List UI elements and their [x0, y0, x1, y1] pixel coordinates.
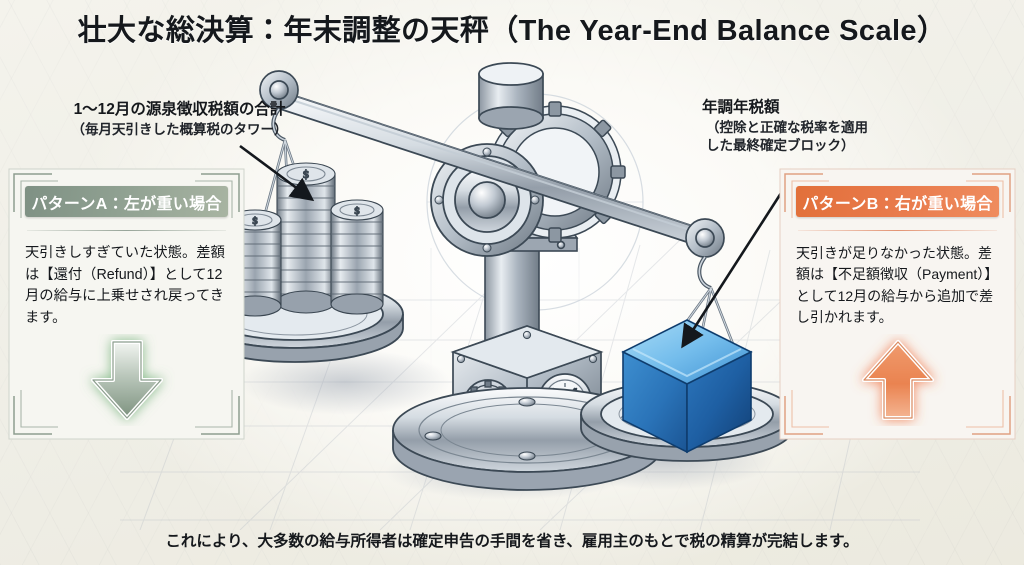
callout-left: 1〜12月の源泉徴収税額の合計 （毎月天引きした概算税のタワー）: [52, 100, 307, 139]
coin-stack-right: $: [331, 200, 383, 314]
panel-pattern-b: パターンB：右が重い場合 天引きが足りなかった状態。差額は【不足額徴収（Paym…: [779, 168, 1016, 440]
panel-b-divider: [798, 230, 997, 231]
callout-left-sub: （毎月天引きした概算税のタワー）: [52, 121, 307, 139]
panel-b-body: 天引きが足りなかった状態。差額は【不足額徴収（Payment）】として12月の給…: [796, 243, 999, 328]
panel-pattern-a: パターンA：左が重い場合 天引きしすぎていた状態。差額は【還付（Refund）】…: [8, 168, 245, 440]
arrow-down-icon: [79, 334, 175, 426]
callout-right-sub-line2: した最終確定ブロック）: [702, 137, 942, 155]
arrow-up-icon: [850, 334, 946, 426]
panel-a-body: 天引きしすぎていた状態。差額は【還付（Refund）】として12月の給与に上乗せ…: [25, 243, 228, 330]
top-cylinder-cap: [479, 63, 543, 129]
page-title: 壮大な総決算：年末調整の天秤（The Year-End Balance Scal…: [0, 7, 1024, 49]
panel-b-banner: パターンB：右が重い場合: [796, 186, 999, 217]
callout-left-heading: 1〜12月の源泉徴収税額の合計: [52, 100, 307, 121]
callout-right-heading: 年調年税額: [702, 98, 942, 119]
callout-right: 年調年税額 （控除と正確な税率を適用 した最終確定ブロック）: [702, 98, 942, 155]
infographic-canvas: 壮大な総決算：年末調整の天秤（The Year-End Balance Scal…: [0, 0, 1024, 565]
arrow-down-right-pointer: [236, 142, 356, 217]
callout-right-sub-line1: （控除と正確な税率を適用: [702, 119, 942, 137]
svg-text:$: $: [252, 216, 258, 227]
footer-caption: これにより、大多数の給与所得者は確定申告の手間を省き、雇用主のもとで税の精算が完…: [0, 529, 1024, 551]
panel-a-divider: [27, 230, 226, 231]
panel-a-banner: パターンA：左が重い場合: [25, 186, 228, 217]
